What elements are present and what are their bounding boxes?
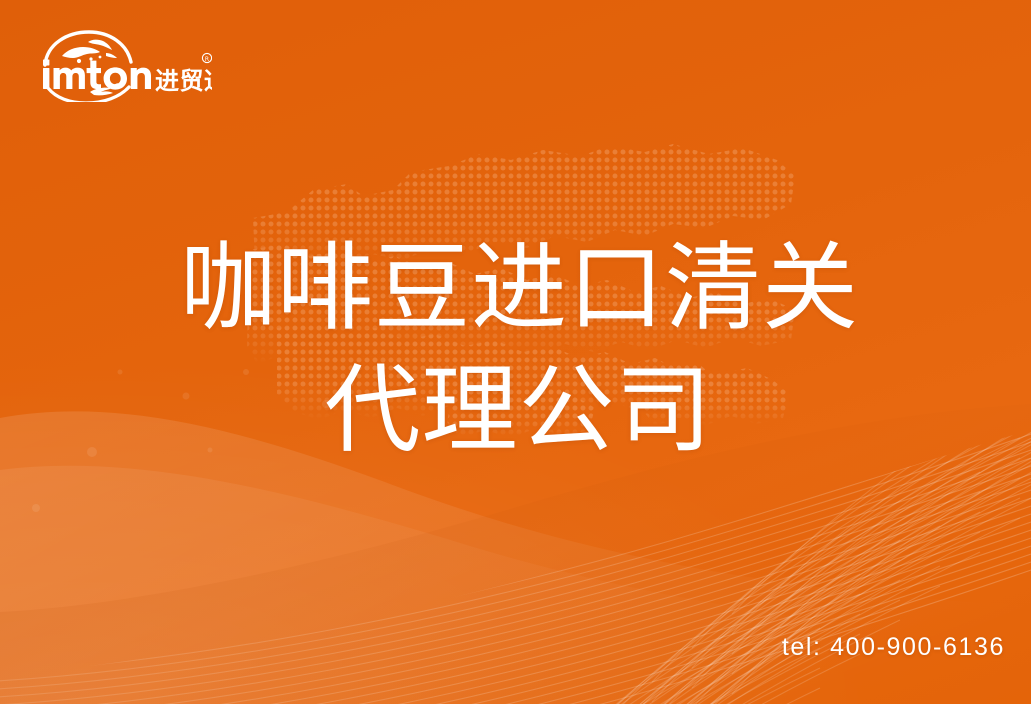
contact-telephone[interactable]: tel: 400-900-6136 (782, 633, 1005, 662)
headline-line-2: 代理公司 (0, 350, 1031, 472)
brand-latin-text (43, 60, 151, 90)
page-title: 咖啡豆进口清关 代理公司 (0, 228, 1031, 472)
svg-text:R: R (205, 56, 209, 63)
brand-logo[interactable]: 进贸通 R (34, 26, 212, 102)
brand-chinese-text: 进贸通 (155, 67, 212, 95)
registered-mark-icon: R (202, 53, 211, 63)
globe-arc-icon (45, 32, 131, 65)
promo-banner: 进贸通 R 咖啡豆进口清关 代理公司 tel: 400-900-6136 (0, 0, 1031, 704)
headline-line-1: 咖啡豆进口清关 (0, 228, 1031, 350)
